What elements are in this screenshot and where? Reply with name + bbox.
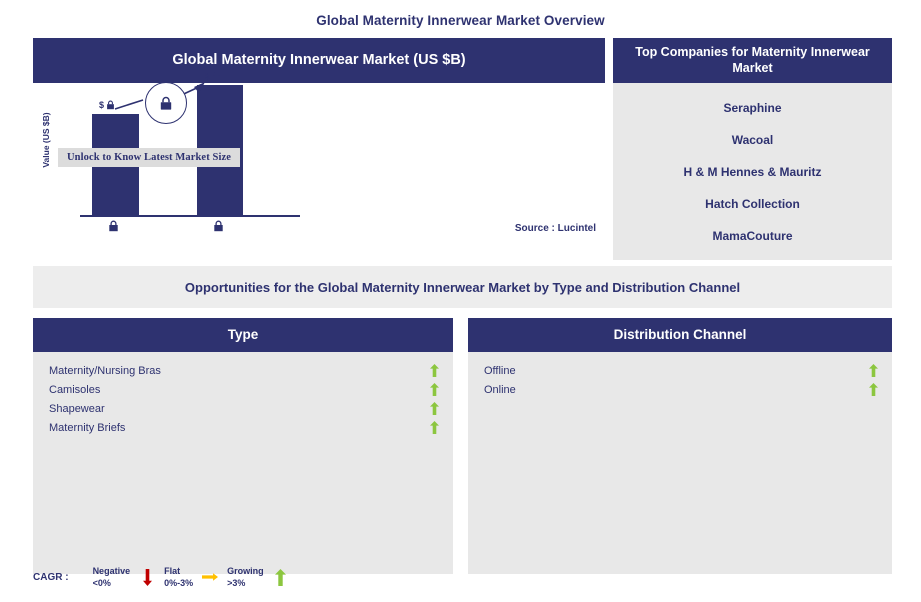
legend-growing-name: Growing bbox=[227, 565, 264, 577]
top-companies-header: Top Companies for Maternity Innerwear Ma… bbox=[613, 38, 892, 83]
type-panel-header: Type bbox=[33, 318, 453, 352]
legend-flat-range: 0%-3% bbox=[164, 577, 193, 589]
table-row: Shapewear bbox=[49, 399, 441, 418]
lock-icon bbox=[212, 71, 221, 81]
lock-icon bbox=[159, 96, 173, 111]
type-panel: Type Maternity/Nursing Bras Camisoles Sh… bbox=[33, 318, 453, 574]
list-item: Wacoal bbox=[613, 124, 892, 156]
market-chart-body: Value (US $B) $ $ bbox=[33, 83, 605, 260]
legend-item-flat: Flat 0%-3% bbox=[164, 565, 218, 589]
source-note: Source : Lucintel bbox=[515, 223, 596, 234]
table-row: Maternity/Nursing Bras bbox=[49, 361, 441, 380]
cagr-legend-title: CAGR : bbox=[33, 572, 69, 583]
legend-negative-name: Negative bbox=[93, 565, 131, 577]
right-arrow-icon bbox=[202, 572, 218, 582]
legend-flat-text: Flat 0%-3% bbox=[164, 565, 193, 589]
page-title: Global Maternity Innerwear Market Overvi… bbox=[0, 13, 921, 28]
type-row-label: Maternity/Nursing Bras bbox=[49, 365, 161, 377]
table-row: Maternity Briefs bbox=[49, 418, 441, 437]
market-chart-header: Global Maternity Innerwear Market (US $B… bbox=[33, 38, 605, 83]
type-panel-list: Maternity/Nursing Bras Camisoles Shapewe… bbox=[33, 352, 453, 574]
legend-negative-range: <0% bbox=[93, 577, 131, 589]
list-item: MamaCouture bbox=[613, 220, 892, 252]
list-item: Hatch Collection bbox=[613, 188, 892, 220]
cagr-legend: CAGR : Negative <0% Flat 0%-3% Growing >… bbox=[33, 563, 298, 591]
legend-flat-name: Flat bbox=[164, 565, 193, 577]
type-row-label: Maternity Briefs bbox=[49, 422, 125, 434]
market-chart-card: Global Maternity Innerwear Market (US $B… bbox=[33, 38, 605, 260]
list-item: Seraphine bbox=[613, 92, 892, 124]
market-overview-page: Global Maternity Innerwear Market Overvi… bbox=[0, 0, 921, 602]
legend-negative-text: Negative <0% bbox=[93, 565, 131, 589]
opportunities-banner: Opportunities for the Global Maternity I… bbox=[33, 266, 892, 308]
locked-growth-badge bbox=[145, 82, 187, 124]
table-row: Camisoles bbox=[49, 380, 441, 399]
lock-icon bbox=[108, 220, 119, 232]
legend-growing-range: >3% bbox=[227, 577, 264, 589]
legend-item-growing: Growing >3% bbox=[227, 565, 289, 589]
legend-growing-text: Growing >3% bbox=[227, 565, 264, 589]
distribution-row-label: Offline bbox=[484, 365, 516, 377]
type-row-label: Camisoles bbox=[49, 384, 100, 396]
down-arrow-icon bbox=[139, 569, 155, 586]
bar-value-currency-1: $ bbox=[99, 100, 104, 110]
top-companies-list: Seraphine Wacoal H & M Hennes & Mauritz … bbox=[613, 83, 892, 260]
up-arrow-icon bbox=[427, 421, 441, 434]
distribution-channel-panel: Distribution Channel Offline Online bbox=[468, 318, 892, 574]
up-arrow-icon bbox=[866, 383, 880, 396]
top-companies-card: Top Companies for Maternity Innerwear Ma… bbox=[613, 38, 892, 260]
distribution-panel-list: Offline Online bbox=[468, 352, 892, 574]
legend-item-negative: Negative <0% bbox=[93, 565, 156, 589]
lock-icon bbox=[213, 220, 224, 232]
list-item: H & M Hennes & Mauritz bbox=[613, 156, 892, 188]
table-row: Online bbox=[484, 380, 880, 399]
chart-y-axis-label: Value (US $B) bbox=[41, 95, 51, 185]
up-arrow-icon bbox=[427, 383, 441, 396]
distribution-row-label: Online bbox=[484, 384, 516, 396]
up-arrow-icon bbox=[427, 402, 441, 415]
chart-x-axis-line bbox=[80, 215, 300, 217]
type-row-label: Shapewear bbox=[49, 403, 105, 415]
up-arrow-icon bbox=[427, 364, 441, 377]
table-row: Offline bbox=[484, 361, 880, 380]
up-arrow-icon bbox=[866, 364, 880, 377]
distribution-panel-header: Distribution Channel bbox=[468, 318, 892, 352]
x-tick-lock-2 bbox=[213, 219, 224, 237]
unlock-banner[interactable]: Unlock to Know Latest Market Size bbox=[58, 148, 240, 167]
up-arrow-icon bbox=[273, 569, 289, 586]
x-tick-lock-1 bbox=[108, 219, 119, 237]
